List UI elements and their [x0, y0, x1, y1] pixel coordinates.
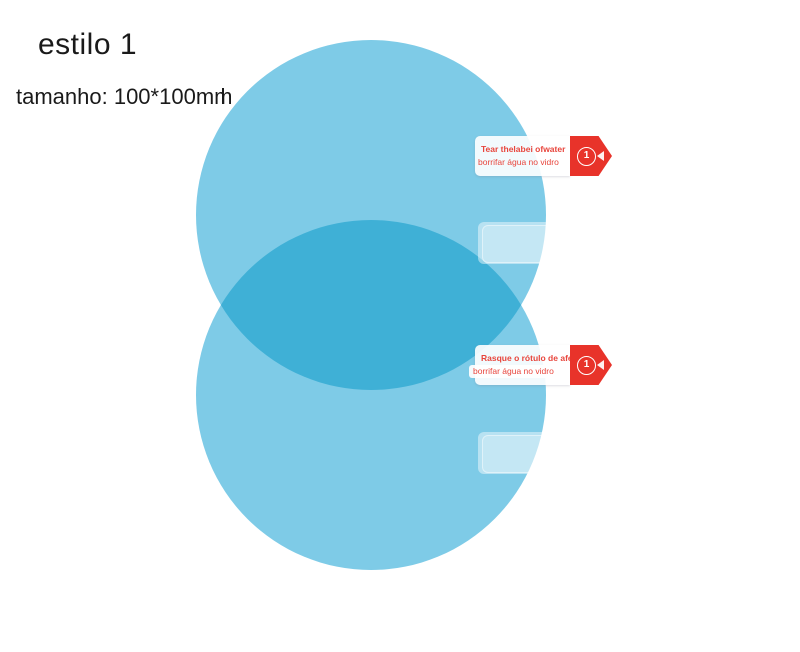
instruction-tag-1: Tear thelabei ofwater borrifar água no v…: [475, 136, 612, 176]
step-number-badge: 1: [577, 147, 596, 166]
instruction-tag-1-arrow: 1: [570, 136, 612, 176]
instruction-tag-2-line1: Rasque o rótulo de afer: [481, 352, 564, 365]
instruction-tag-2-line2: borrifar água no vidro: [469, 365, 564, 378]
size-dimension-tick: [222, 88, 224, 104]
left-triangle-notch-icon: [597, 360, 604, 370]
instruction-tag-1-line2: borrifar água no vidro: [478, 156, 564, 169]
ghost-tag-1-panel: [482, 225, 558, 263]
instruction-tag-1-body: Tear thelabei ofwater borrifar água no v…: [475, 136, 570, 176]
ghost-tag-2: [478, 432, 598, 474]
circle-overlap-region: [196, 220, 546, 570]
instruction-tag-2-arrow: 1: [570, 345, 612, 385]
instruction-tag-2: Rasque o rótulo de afer borrifar água no…: [475, 345, 612, 385]
instruction-tag-1-line1: Tear thelabei ofwater: [481, 143, 564, 156]
step-number-badge: 1: [577, 356, 596, 375]
style-title: estilo 1: [38, 28, 137, 63]
instruction-tag-2-body: Rasque o rótulo de afer borrifar água no…: [475, 345, 570, 385]
size-label: tamanho: 100*100mm: [16, 84, 232, 109]
ghost-tag-1: [478, 222, 598, 264]
ghost-tag-2-panel: [482, 435, 558, 473]
product-illustration-canvas: estilo 1 tamanho: 100*100mm Tear thelabe…: [0, 0, 800, 652]
left-triangle-notch-icon: [597, 151, 604, 161]
